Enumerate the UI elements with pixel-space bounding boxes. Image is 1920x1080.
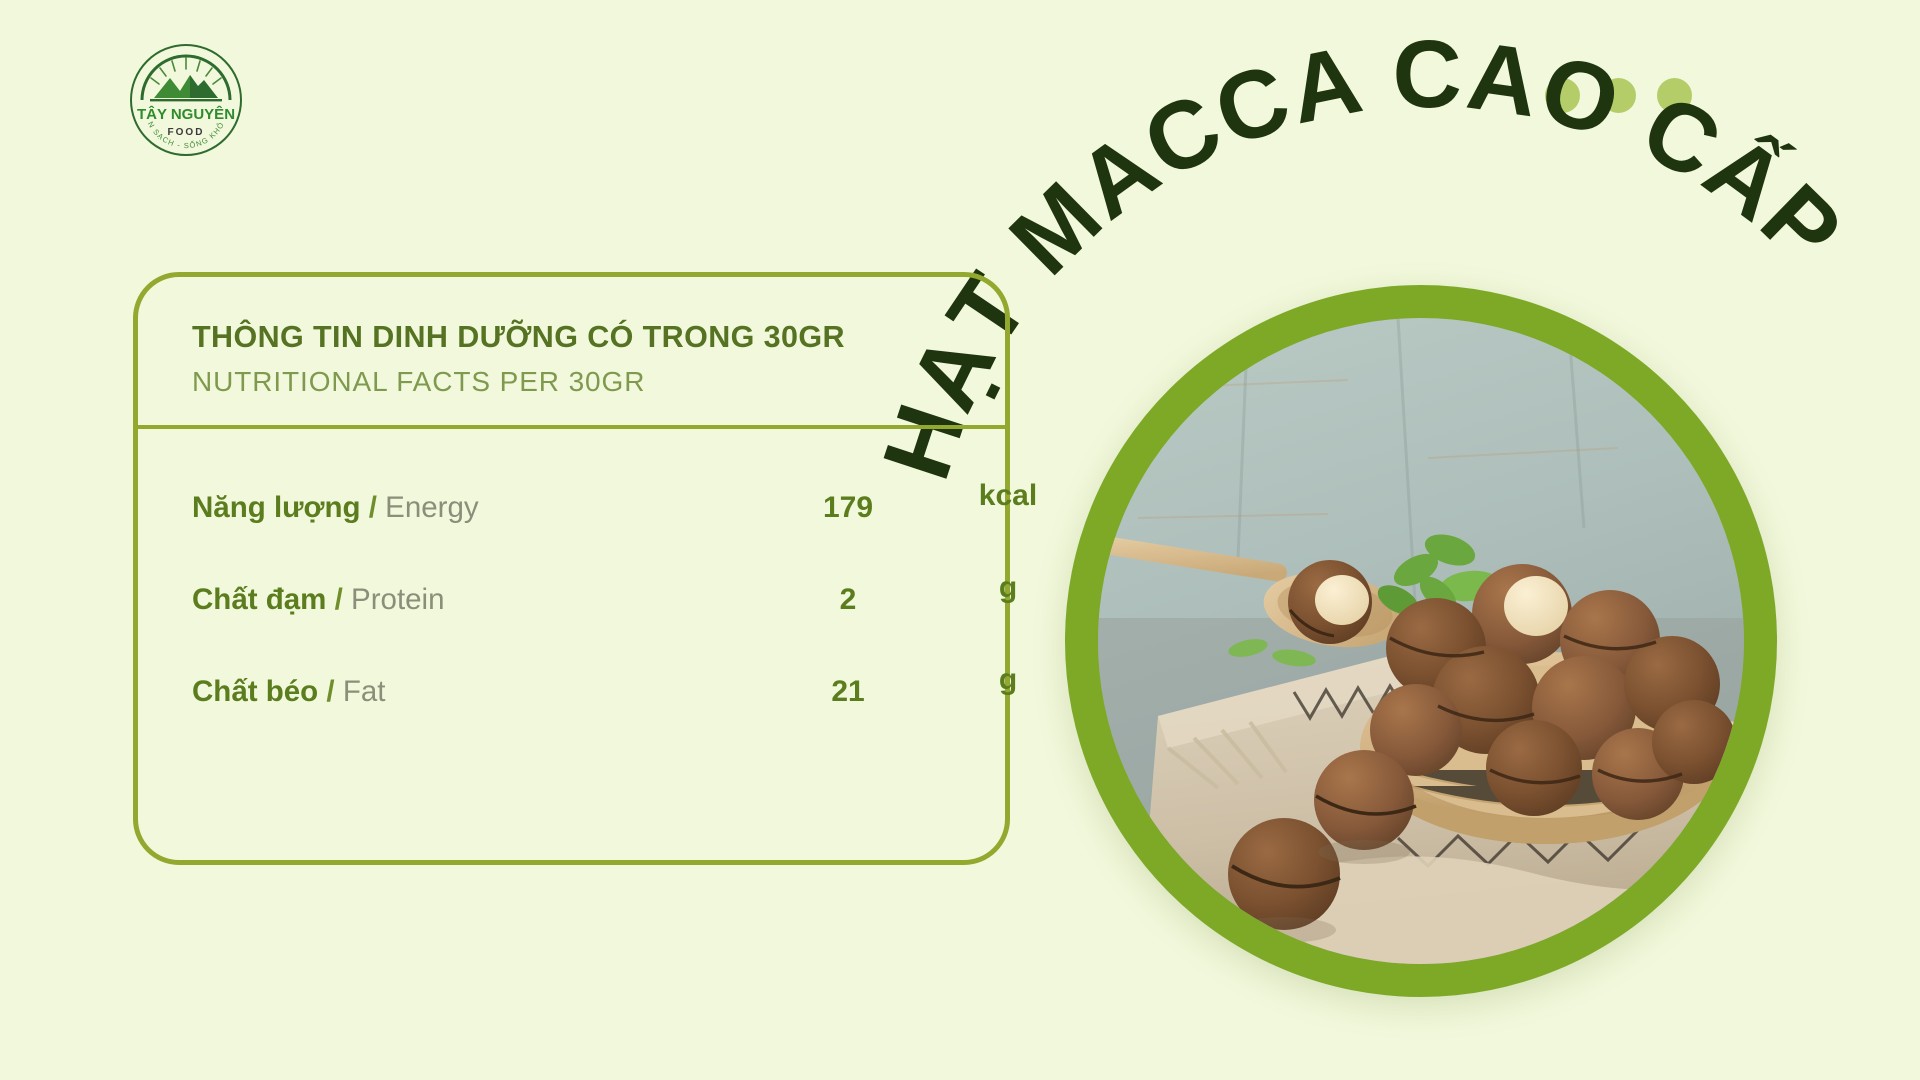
- poster-canvas: TÂY NGUYÊN FOOD ĂN SẠCH - SỐNG KHỎE HẠT …: [0, 0, 1920, 1080]
- nutrition-unit-protein: g: [928, 571, 1088, 605]
- nutrition-unit-fat: g: [928, 663, 1088, 697]
- nutrition-label-en: Protein: [351, 583, 444, 616]
- logo-name-line2: FOOD: [168, 127, 205, 138]
- nutrition-label-protein: Chất đạm / Protein: [192, 583, 445, 617]
- nutrition-card-title: THÔNG TIN DINH DƯỠNG CÓ TRONG 30GR: [192, 320, 1005, 355]
- nutrition-row-fat: Chất béo / Fat 21 g: [138, 657, 1005, 749]
- nutrition-label-vi: Năng lượng: [192, 491, 361, 524]
- nutrition-label-vi: Chất béo: [192, 675, 318, 708]
- nutrition-card-subtitle: NUTRITIONAL FACTS PER 30GR: [192, 366, 1005, 398]
- dot-icon-3: [1657, 78, 1692, 113]
- nutrition-value-fat: 21: [738, 675, 958, 709]
- nutrition-label-energy: Năng lượng / Energy: [192, 491, 479, 525]
- macadamia-nuts-photo: [1098, 318, 1744, 964]
- product-photo: [1098, 318, 1744, 964]
- nutrition-label-fat: Chất béo / Fat: [192, 675, 385, 709]
- dot-icon-1: [1545, 78, 1580, 113]
- label-separator: /: [369, 491, 377, 524]
- nutrition-unit-energy: kcal: [928, 479, 1088, 513]
- nutrition-label-en: Energy: [385, 491, 478, 524]
- nutrition-row-energy: Năng lượng / Energy 179 kcal: [138, 473, 1005, 565]
- logo-name-line1: TÂY NGUYÊN: [137, 105, 235, 123]
- brand-logo: TÂY NGUYÊN FOOD ĂN SẠCH - SỐNG KHỎE: [128, 42, 244, 158]
- nutrition-label-en: Fat: [343, 675, 386, 708]
- nutrition-rows: Năng lượng / Energy 179 kcal Chất đạm / …: [138, 429, 1005, 749]
- decorative-dots: [1545, 78, 1692, 113]
- nutrition-value-protein: 2: [738, 583, 958, 617]
- dot-icon-2: [1601, 78, 1636, 113]
- nutrition-label-vi: Chất đạm: [192, 583, 326, 616]
- label-separator: /: [326, 675, 334, 708]
- nutrition-card-header: THÔNG TIN DINH DƯỠNG CÓ TRONG 30GR NUTRI…: [138, 277, 1005, 398]
- label-separator: /: [335, 583, 343, 616]
- nutrition-row-protein: Chất đạm / Protein 2 g: [138, 565, 1005, 657]
- nutrition-card: THÔNG TIN DINH DƯỠNG CÓ TRONG 30GR NUTRI…: [133, 272, 1010, 865]
- nutrition-value-energy: 179: [738, 491, 958, 525]
- product-image-ring: [1065, 285, 1777, 997]
- mountain-sunrise-icon: TÂY NGUYÊN FOOD ĂN SẠCH - SỐNG KHỎE: [128, 42, 244, 158]
